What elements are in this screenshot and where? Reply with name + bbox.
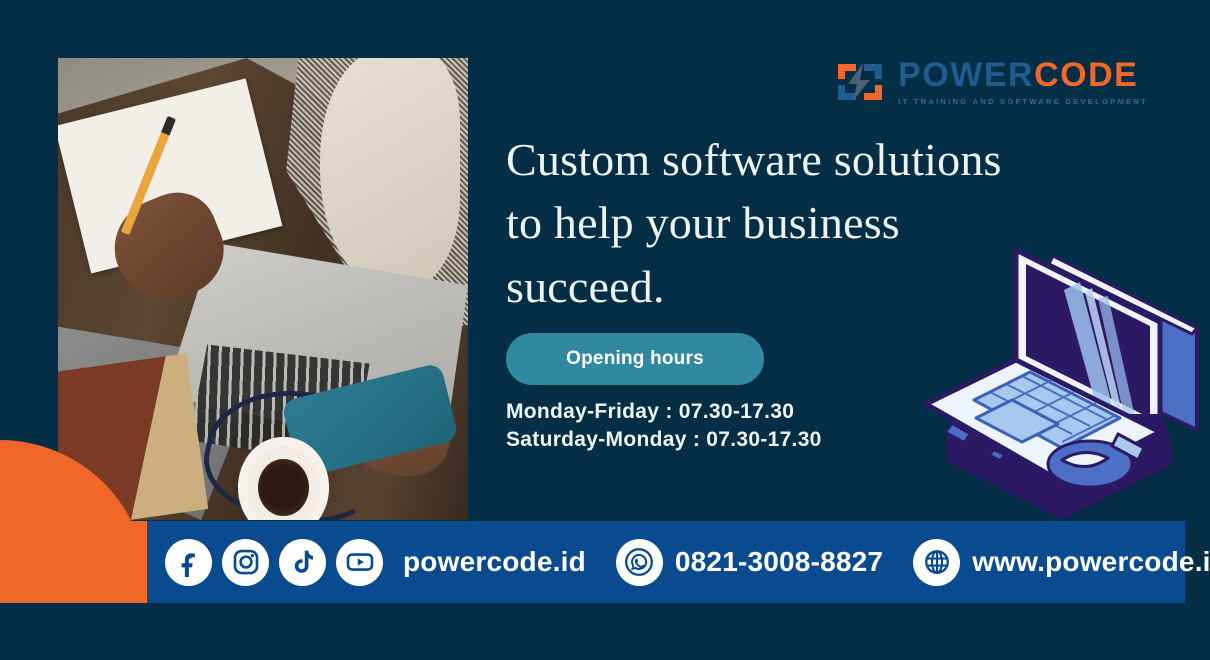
logo-wordmark: POWERCODE: [898, 58, 1138, 92]
contact-bar: powercode.id 0821-3008-8827 www.powercod…: [147, 521, 1185, 603]
orange-decor-block: [0, 521, 147, 603]
hours-line-weekday: Monday-Friday : 07.30-17.30: [506, 398, 822, 426]
logo-tagline: IT TRAINING AND SOFTWARE DEVELOPMENT: [898, 97, 1148, 106]
logo-word-power: POWER: [898, 56, 1034, 94]
globe-icon[interactable]: [913, 539, 960, 586]
powercode-lightning-mark: [836, 60, 884, 104]
youtube-icon[interactable]: [336, 539, 383, 586]
logo-text: POWERCODE IT TRAINING AND SOFTWARE DEVEL…: [898, 58, 1148, 106]
isometric-laptop-illustration: [912, 238, 1202, 528]
whatsapp-icon[interactable]: [616, 539, 663, 586]
instagram-icon[interactable]: [222, 539, 269, 586]
photo-sweater: [320, 58, 459, 289]
opening-hours-button[interactable]: Opening hours: [506, 333, 764, 385]
social-links: [165, 539, 383, 586]
logo-word-code: CODE: [1034, 56, 1138, 94]
opening-hours-list: Monday-Friday : 07.30-17.30 Saturday-Mon…: [506, 398, 822, 454]
phone-number[interactable]: 0821-3008-8827: [675, 546, 883, 578]
whatsapp-contact[interactable]: 0821-3008-8827: [616, 539, 883, 586]
facebook-icon[interactable]: [165, 539, 212, 586]
hours-line-weekend: Saturday-Monday : 07.30-17.30: [506, 426, 822, 454]
website-url[interactable]: www.powercode.id: [972, 546, 1210, 578]
website-contact[interactable]: www.powercode.id: [913, 539, 1210, 586]
brand-logo[interactable]: POWERCODE IT TRAINING AND SOFTWARE DEVEL…: [836, 58, 1148, 106]
marketing-banner: POWERCODE IT TRAINING AND SOFTWARE DEVEL…: [0, 0, 1210, 660]
social-handle[interactable]: powercode.id: [403, 546, 586, 578]
tiktok-icon[interactable]: [279, 539, 326, 586]
